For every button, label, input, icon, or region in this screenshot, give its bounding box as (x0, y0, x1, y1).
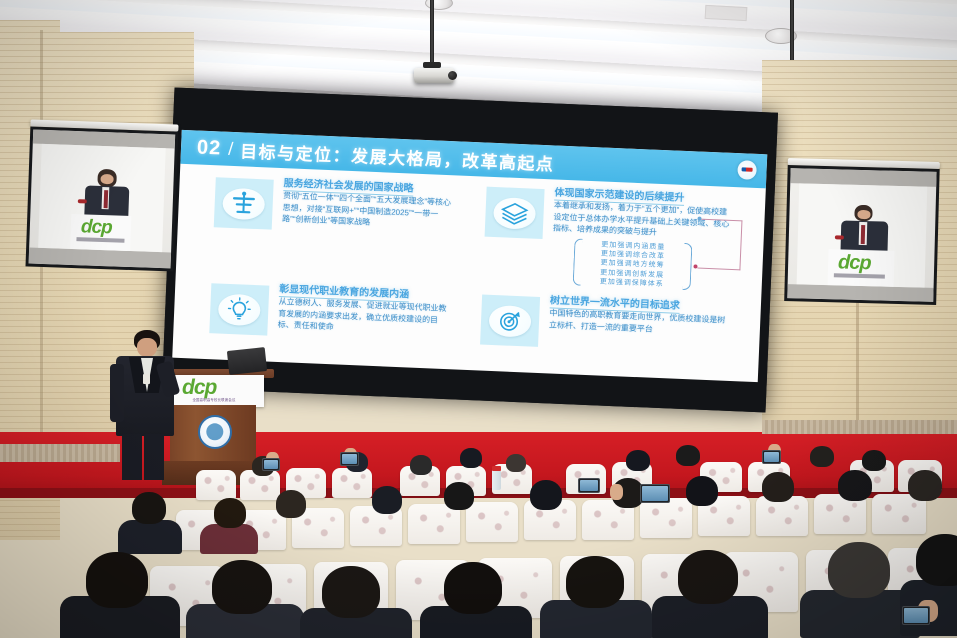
left-projection-screen: dcp (25, 119, 178, 272)
audience-hand (610, 484, 623, 500)
audience-head (276, 490, 306, 518)
slide-block-4: 树立世界一流水平的目标追求 中国特色的高职教育要走向世界，优质校建设是树立标杆、… (465, 284, 761, 382)
target-dart-glyph (497, 307, 524, 334)
audience-shoulders (118, 520, 182, 554)
presentation-slide: 02 / 目标与定位：发展大格局，改革高起点 (172, 130, 767, 382)
audience-head (410, 455, 432, 475)
audience-shoulders (200, 524, 258, 554)
lightbulb-idea-glyph (226, 296, 253, 323)
audience-head (444, 562, 502, 614)
audience-head (810, 446, 834, 467)
audience-head (506, 454, 526, 472)
layers-stack-glyph (500, 200, 529, 225)
tablet-device[interactable] (640, 484, 670, 503)
presenter-at-podium (108, 330, 188, 480)
audience-head (916, 534, 957, 586)
audience-head (862, 450, 886, 471)
audience-head (908, 470, 942, 501)
bracket-list: 更加强调内涵质量 更加强调综合改革 更加强调地方统筹 更加强调创新发展 更加强调… (582, 240, 684, 290)
audience-head (566, 556, 624, 608)
podium-laptop (227, 347, 267, 375)
block-3-body: 从立德树人、服务发展、促进就业等现代职业教育发展的内涵要求出发，确立优质校建设的… (277, 296, 450, 338)
audience-head (460, 448, 482, 468)
audience-head (86, 552, 148, 608)
target-dart-icon (480, 295, 540, 347)
audience-head (322, 566, 380, 618)
right-projection-screen: dcp (784, 158, 940, 307)
audience-head (676, 445, 700, 466)
audience-head (828, 542, 890, 598)
screen-surface: dcp (787, 168, 936, 302)
audience-head (838, 470, 872, 501)
layers-stack-icon (485, 187, 545, 239)
school-emblem (198, 415, 232, 449)
audience-head (686, 476, 718, 506)
smartphone[interactable] (262, 458, 280, 471)
balance-scale-glyph (228, 190, 259, 217)
block-1-body: 贯彻“五位一体”“四个全面”“五大发展理念”等核心思想，对接“互联网+”“中国制… (282, 190, 455, 232)
balance-scale-icon (214, 177, 274, 229)
slide-block-1: 服务经济社会发展的国家战略 贯彻“五位一体”“四个全面”“五大发展理念”等核心思… (176, 164, 473, 273)
conference-hall-photo: 02 / 目标与定位：发展大格局，改革高起点 (0, 0, 957, 638)
live-video-feed: dcp (38, 144, 167, 252)
audience-head (372, 486, 402, 514)
audience-head (626, 450, 650, 471)
audience-head (132, 492, 166, 524)
audience-head (214, 498, 246, 528)
smartphone[interactable] (340, 452, 359, 466)
lightbulb-idea-icon (209, 283, 269, 335)
audience-head (530, 480, 562, 510)
smartphone[interactable] (578, 478, 600, 493)
slide-separator: / (228, 138, 234, 159)
smartphone[interactable] (762, 450, 781, 464)
stage-skirt (0, 444, 120, 462)
bottle-cap (492, 466, 501, 471)
audience-head (762, 472, 794, 502)
screen-surface: dcp (29, 130, 176, 269)
slide-block-2: 体现国家示范建设的后续提升 本着继承和发扬，着力于“五个更加”，促使高校建设定位… (468, 176, 765, 298)
audience-head (444, 482, 474, 510)
bracket-list-box: 更加强调内涵质量 更加强调综合改革 更加强调地方统筹 更加强调创新发展 更加强调… (573, 238, 693, 290)
slide-number: 02 (197, 136, 222, 160)
stage-skirt (762, 420, 957, 434)
block-4-body: 中国特色的高职教育要走向世界，优质校建设是树立标杆、打造一流的重要平台 (549, 307, 728, 338)
dcp-logo: dcp (838, 251, 871, 275)
live-video-feed: dcp (796, 183, 927, 287)
audience-head (212, 560, 272, 614)
dcp-logo: dcp (81, 216, 113, 239)
audience-head (678, 550, 738, 604)
water-bottle[interactable] (492, 470, 501, 490)
name-badge (143, 374, 150, 384)
school-logo-badge (737, 160, 757, 180)
callout-connector (697, 219, 742, 271)
smartphone[interactable] (902, 606, 930, 625)
